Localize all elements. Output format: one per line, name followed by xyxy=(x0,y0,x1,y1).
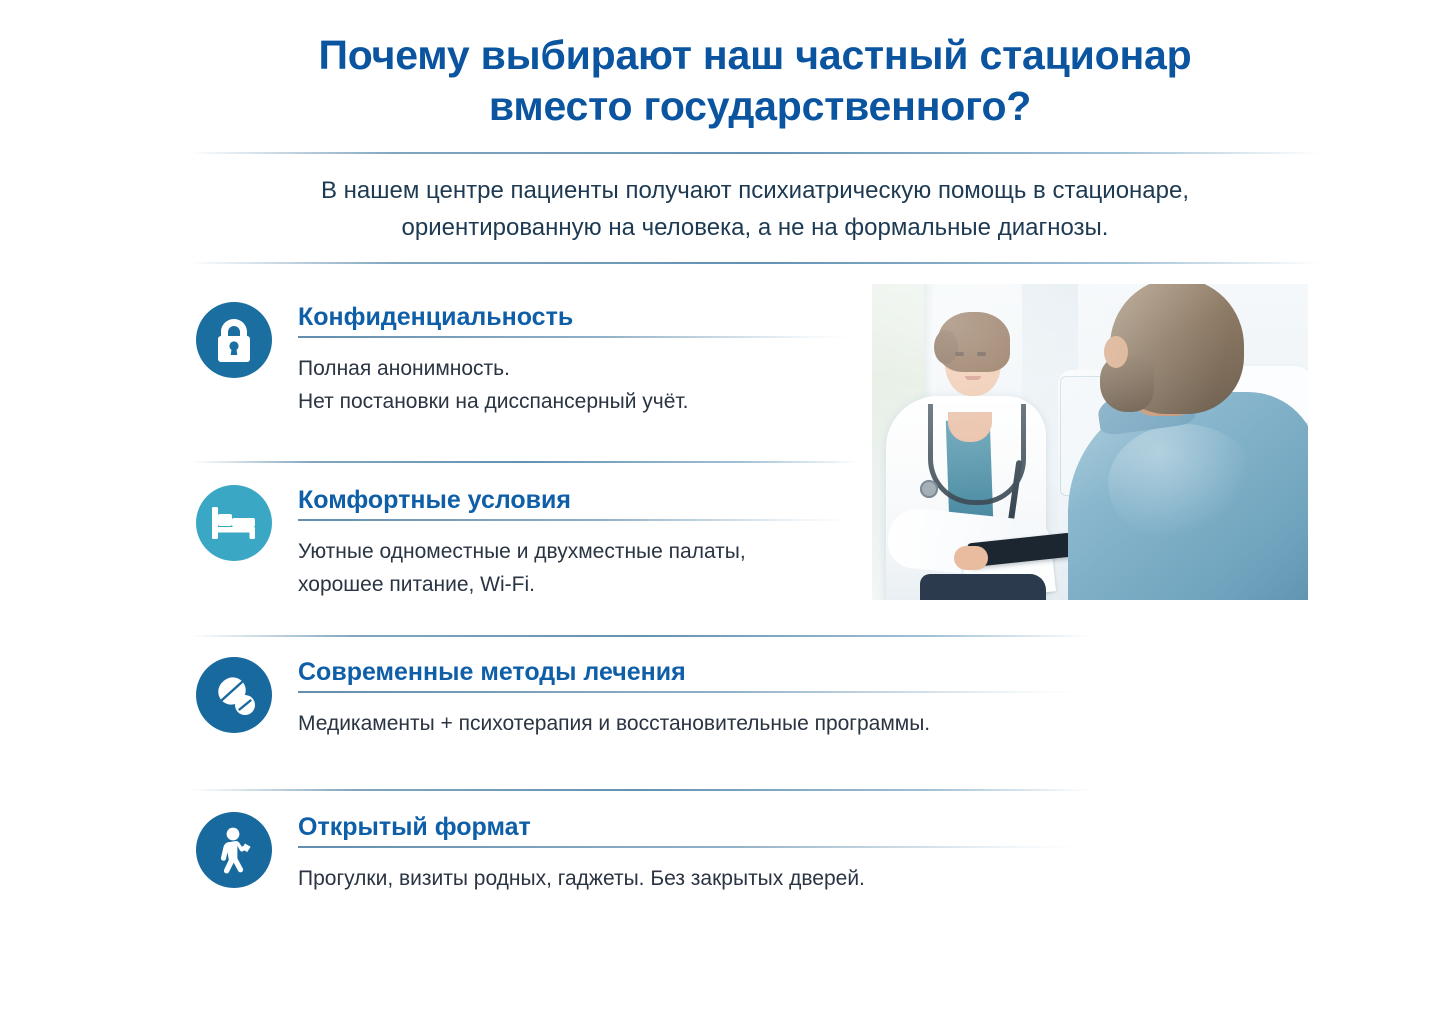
feature-heading-methods: Современные методы лечения xyxy=(298,657,1084,687)
heading-underline-open-format xyxy=(298,846,1084,848)
feature-desc-open-format-line-1: Прогулки, визиты родных, гаджеты. Без за… xyxy=(298,862,1084,895)
photo-doctor-mouth xyxy=(965,376,981,380)
feature-body-methods: Современные методы лечения Медикаменты +… xyxy=(298,657,1084,740)
photo-doctor-eye-right xyxy=(977,352,986,356)
walking-person-icon xyxy=(196,812,272,888)
divider-after-methods xyxy=(192,789,1090,791)
photo-patient-hair xyxy=(1112,284,1242,358)
subtitle-line-2: ориентированную на человека, а не на фор… xyxy=(190,209,1320,246)
bed-icon xyxy=(196,485,272,561)
subtitle: В нашем центре пациенты получают психиат… xyxy=(190,172,1320,246)
feature-heading-open-format: Открытый формат xyxy=(298,812,1084,842)
feature-body-open-format: Открытый формат Прогулки, визиты родных,… xyxy=(298,812,1084,895)
heading-underline-privacy xyxy=(298,336,854,338)
photo-doctor-eye-left xyxy=(955,352,964,356)
feature-body-comfort: Комфортные условия Уютные одноместные и … xyxy=(298,485,854,601)
divider-after-comfort xyxy=(192,635,1090,637)
feature-body-privacy: Конфиденциальность Полная анонимность. Н… xyxy=(298,302,854,418)
photo-patient-ear xyxy=(1104,336,1128,368)
slide-root: Почему выбирают наш частный стационар вм… xyxy=(0,0,1456,1024)
feature-heading-comfort: Комфортные условия xyxy=(298,485,854,515)
divider-below-title xyxy=(190,152,1320,154)
feature-desc-privacy-line-2: Нет постановки на дисспансерный учёт. xyxy=(298,385,854,418)
lock-icon xyxy=(196,302,272,378)
feature-heading-privacy: Конфиденциальность xyxy=(298,302,854,332)
feature-desc-methods-line-1: Медикаменты + психотерапия и восстановит… xyxy=(298,707,1084,740)
photo-patient-shoulder-highlight xyxy=(1108,424,1258,544)
subtitle-line-1: В нашем центре пациенты получают психиат… xyxy=(190,172,1320,209)
photo-doctor-lap xyxy=(920,574,1046,600)
photo-doctor-hand xyxy=(954,546,988,570)
photo-doctor-hair-bun xyxy=(934,330,958,364)
feature-desc-privacy-line-1: Полная анонимность. xyxy=(298,352,854,385)
divider-after-privacy xyxy=(192,461,860,463)
heading-underline-methods xyxy=(298,691,1084,693)
divider-below-subtitle xyxy=(190,262,1320,264)
doctor-patient-photo xyxy=(872,284,1308,600)
heading-underline-comfort xyxy=(298,519,854,521)
feature-desc-comfort-line-1: Уютные одноместные и двухместные палаты, xyxy=(298,535,854,568)
page-title-line-2: вместо государственного? xyxy=(190,81,1320,132)
page-title: Почему выбирают наш частный стационар вм… xyxy=(190,30,1320,132)
pills-icon xyxy=(196,657,272,733)
photo-stethoscope-bell xyxy=(920,480,938,498)
feature-desc-comfort-line-2: хорошее питание, Wi-Fi. xyxy=(298,568,854,601)
page-title-line-1: Почему выбирают наш частный стационар xyxy=(190,30,1320,81)
